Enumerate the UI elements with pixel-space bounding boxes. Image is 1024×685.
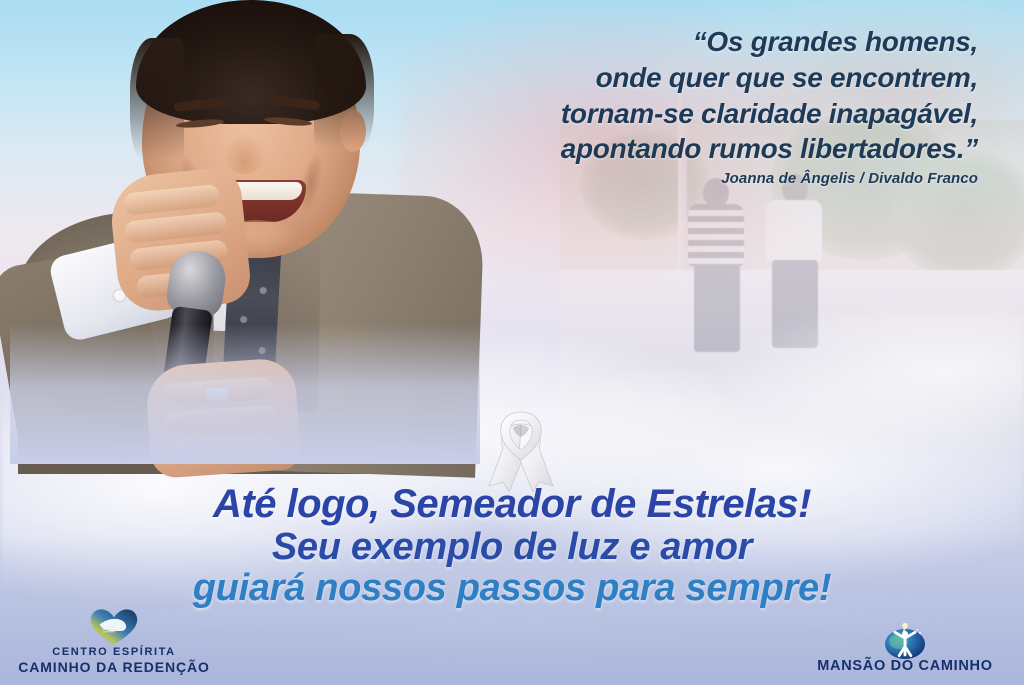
headline-line-1: Até logo, Semeador de Estrelas!: [0, 484, 1024, 526]
logo-centro-espirita: CENTRO ESPÍRITA CAMINHO DA REDENÇÃO: [14, 608, 214, 675]
headline-line-2: Seu exemplo de luz e amor: [0, 528, 1024, 568]
logo-mansao-do-caminho: MANSÃO DO CAMINHO: [800, 620, 1010, 675]
headline: Até logo, Semeador de Estrelas! Seu exem…: [0, 484, 1024, 609]
logo-right-line-2: MANSÃO DO CAMINHO: [800, 658, 1010, 675]
globe-figure-flame-icon: [800, 620, 1010, 658]
quote-line-4: apontando rumos libertadores.”: [418, 131, 978, 167]
quote-line-1: “Os grandes homens,: [418, 24, 978, 60]
logo-left-line-2: CAMINHO DA REDENÇÃO: [14, 659, 214, 675]
quote-line-2: onde quer que se encontrem,: [418, 60, 978, 96]
quote-text: “Os grandes homens, onde quer que se enc…: [418, 24, 978, 167]
heart-hands-icon: [14, 608, 214, 646]
headline-line-3: guiará nossos passos para sempre!: [0, 569, 1024, 609]
quote-author: Joanna de Ângelis / Divaldo Franco: [418, 170, 978, 187]
white-ribbon-icon: [483, 408, 559, 492]
quote-line-3: tornam-se claridade inapagável,: [418, 96, 978, 132]
memorial-poster: “Os grandes homens, onde quer que se enc…: [0, 0, 1024, 685]
portrait-divaldo-franco: [10, 0, 480, 464]
logo-left-line-1: CENTRO ESPÍRITA: [14, 646, 214, 659]
